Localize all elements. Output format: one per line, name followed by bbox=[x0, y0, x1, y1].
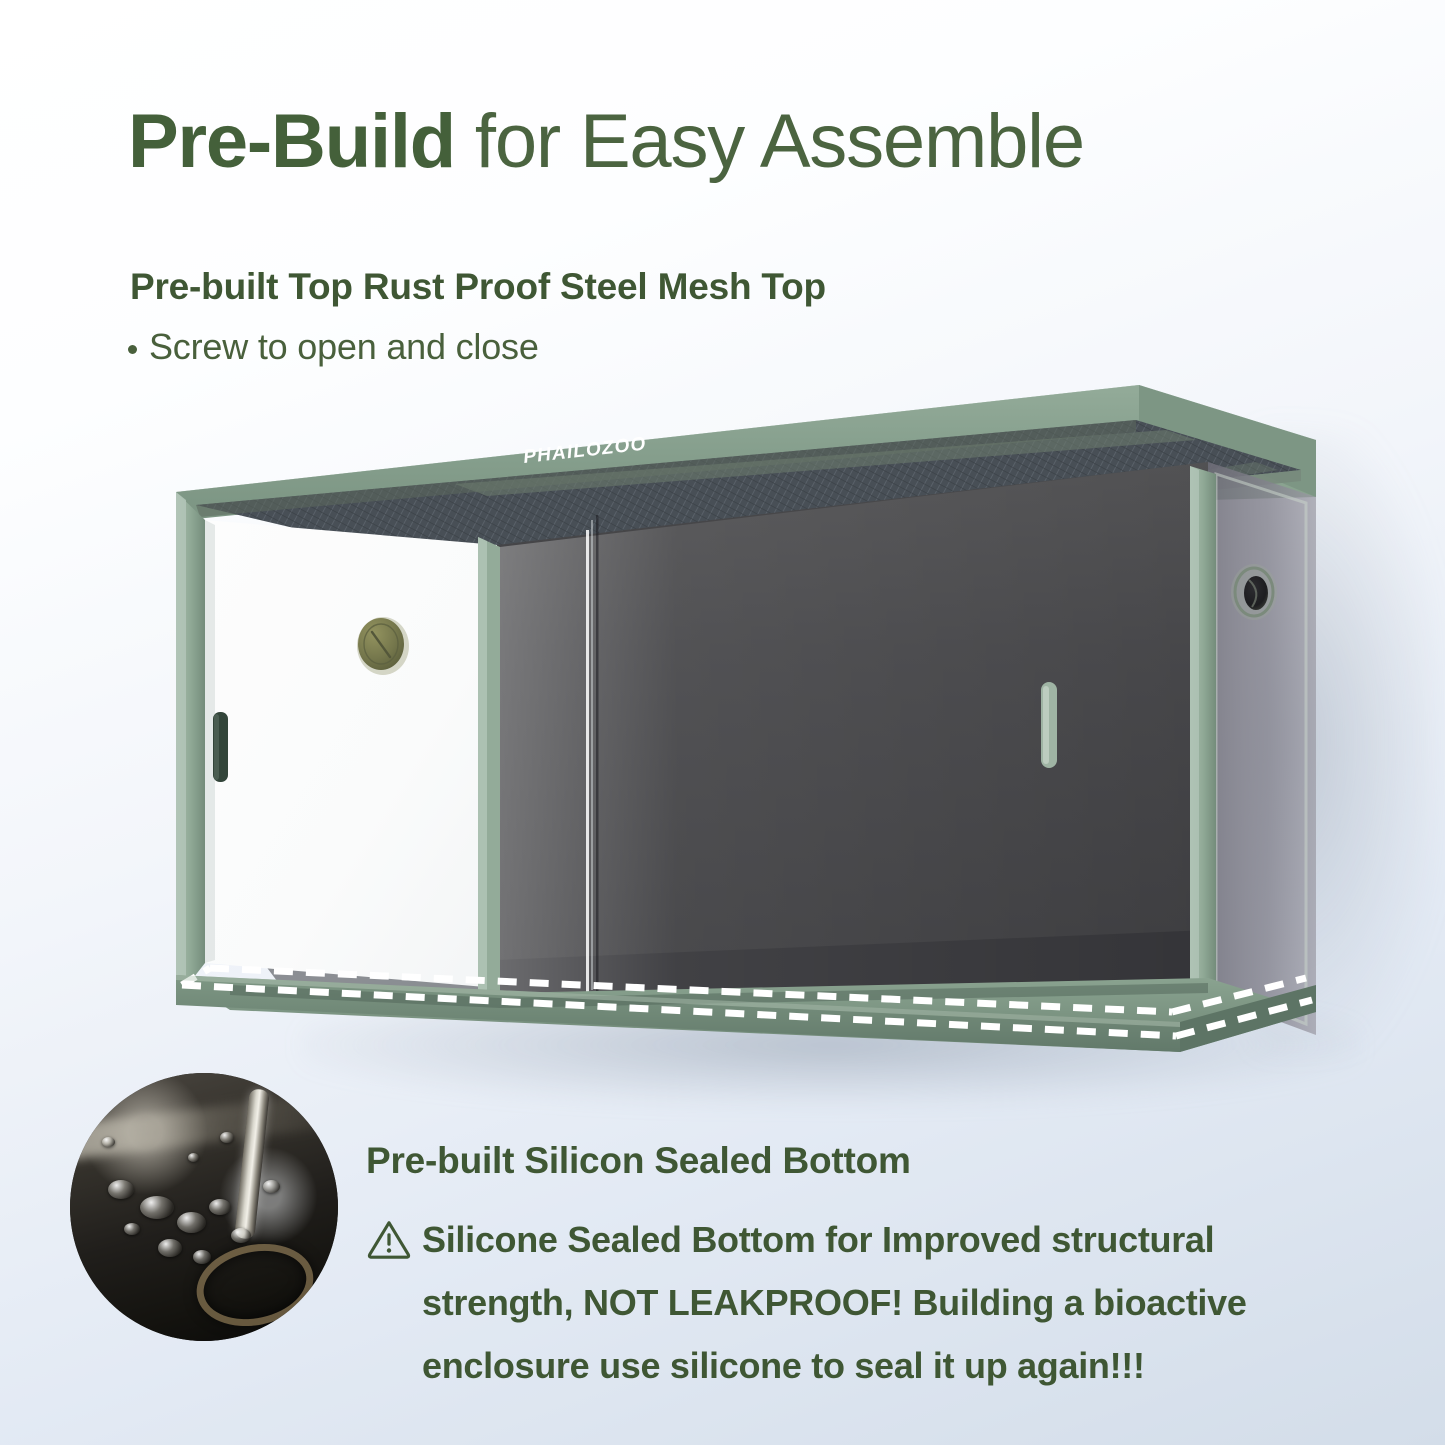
wall-shadow bbox=[1255, 430, 1435, 1050]
floor-shadow bbox=[300, 985, 1360, 1105]
right-corner-post bbox=[1190, 466, 1216, 1000]
silicone-photo-inset bbox=[70, 1073, 338, 1341]
vent-cap-icon bbox=[357, 617, 409, 675]
page-title: Pre-Build for Easy Assemble bbox=[128, 103, 1388, 181]
enclosure-interior bbox=[497, 462, 1208, 1000]
center-frame-post bbox=[478, 537, 500, 1000]
top-section-bullet: Screw to open and close bbox=[128, 326, 539, 368]
page-title-strong: Pre-Build bbox=[128, 99, 455, 184]
warning-triangle-icon bbox=[366, 1216, 412, 1262]
warning-text: Silicone Sealed Bottom for Improved stru… bbox=[422, 1208, 1366, 1397]
left-corner-post bbox=[176, 492, 205, 1000]
front-sliding-glass-door[interactable] bbox=[500, 462, 1208, 1000]
brand-logo: PHAILOZOO bbox=[522, 434, 647, 468]
bullet-dot-icon bbox=[128, 345, 137, 354]
bottom-section-heading: Pre-built Silicon Sealed Bottom bbox=[366, 1140, 911, 1182]
infographic-page: Pre-Build for Easy Assemble Pre-built To… bbox=[0, 0, 1445, 1445]
water-droplet bbox=[108, 1180, 134, 1199]
water-droplet bbox=[220, 1132, 234, 1143]
top-section-heading: Pre-built Top Rust Proof Steel Mesh Top bbox=[130, 266, 826, 308]
left-door-panel[interactable] bbox=[205, 520, 497, 988]
water-droplet bbox=[140, 1196, 174, 1219]
bottom-section-warning: Silicone Sealed Bottom for Improved stru… bbox=[366, 1208, 1366, 1397]
left-door-handle[interactable] bbox=[213, 712, 228, 782]
water-droplet bbox=[124, 1223, 140, 1235]
enclosure-top-lid bbox=[176, 385, 1316, 522]
steel-mesh-top bbox=[196, 420, 1301, 571]
right-door-handle[interactable] bbox=[1041, 682, 1057, 768]
water-droplet bbox=[193, 1250, 211, 1264]
page-title-light: for Easy Assemble bbox=[455, 99, 1084, 184]
top-section-bullet-label: Screw to open and close bbox=[149, 326, 539, 368]
